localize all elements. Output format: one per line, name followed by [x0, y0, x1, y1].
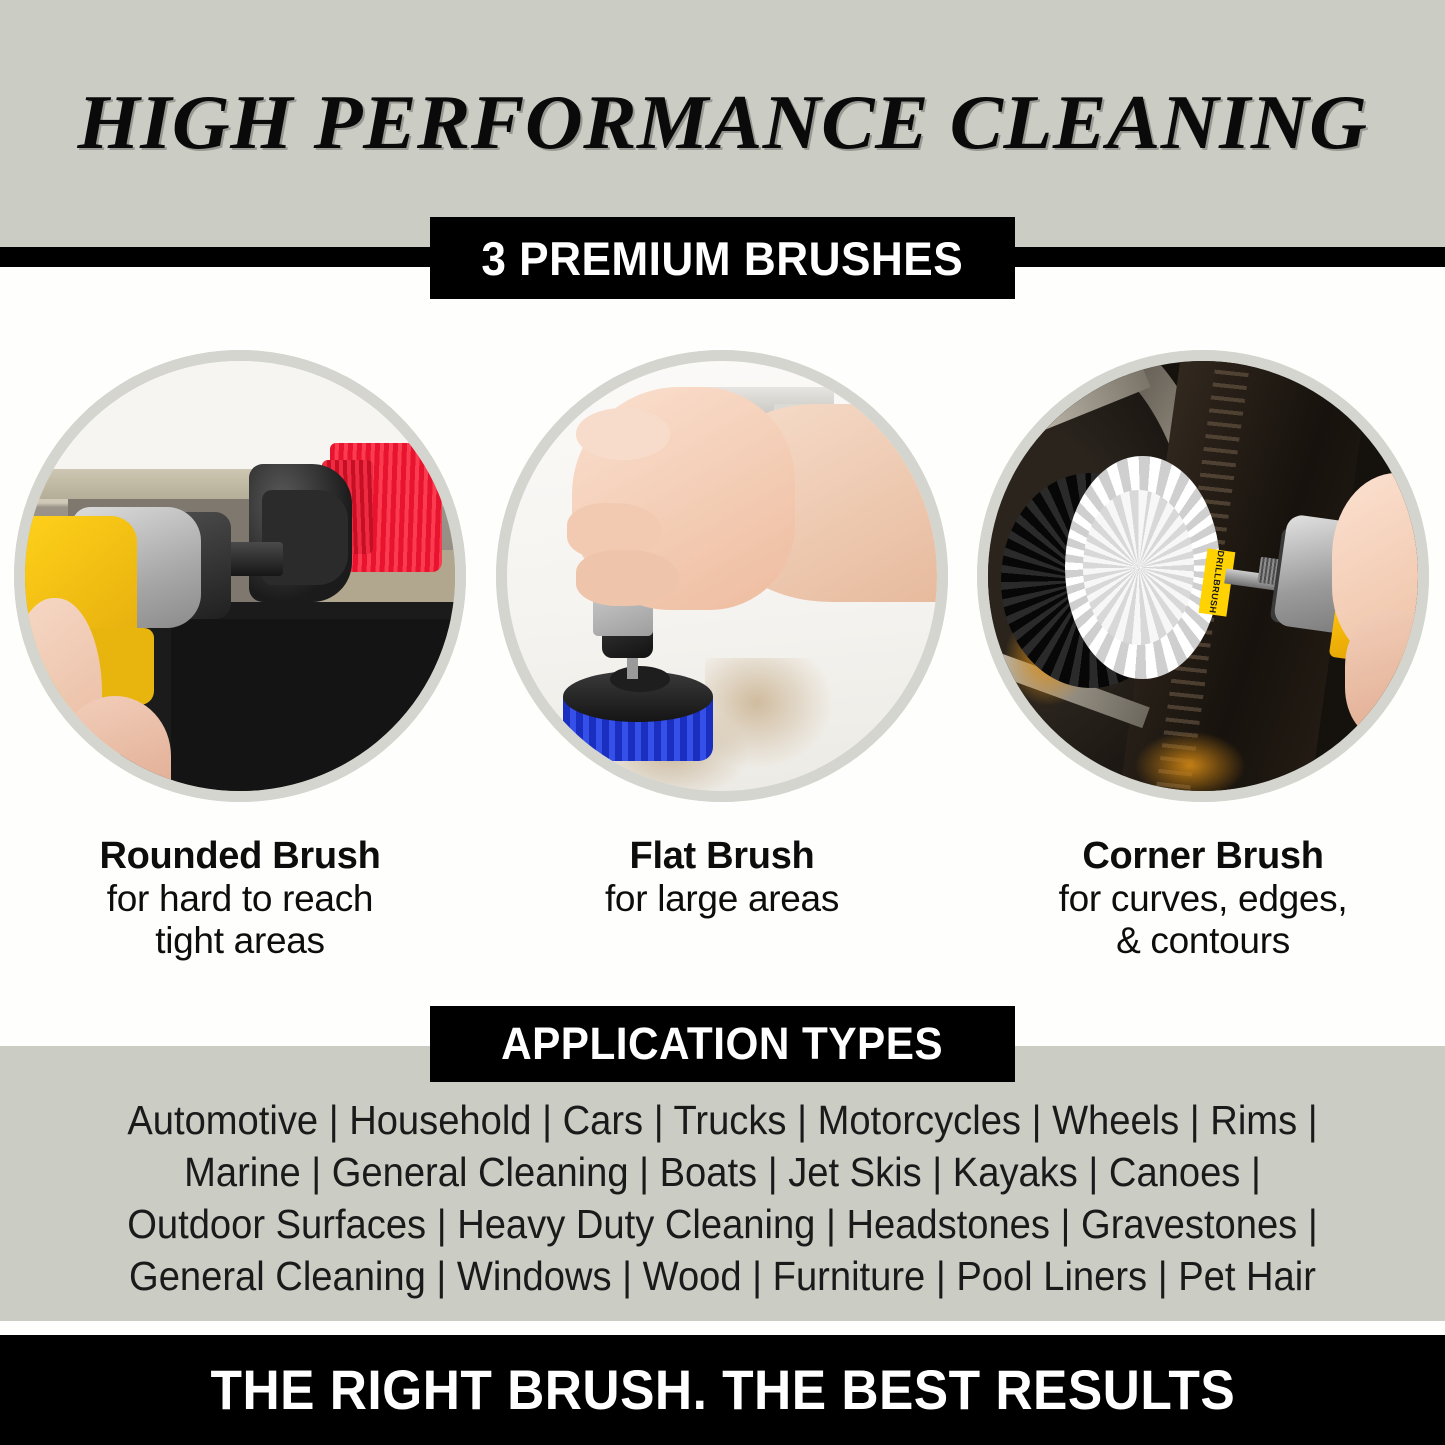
brush-desc-corner-l1: for curves, edges,: [977, 878, 1429, 920]
photo-corner-brush-image: DRILLBRUSH: [988, 361, 1418, 791]
brush-card-rounded[interactable]: Rounded Brush for hard to reach tight ar…: [14, 350, 466, 962]
banner-premium-brushes: 3 PREMIUM BRUSHES: [430, 217, 1015, 299]
brush-desc-rounded-l1: for hard to reach: [14, 878, 466, 920]
brush-caption-flat: Flat Brush for large areas: [496, 835, 948, 920]
application-line-2: Marine | General Cleaning | Boats | Jet …: [51, 1146, 1395, 1198]
banner-application-types: APPLICATION TYPES: [430, 1006, 1015, 1082]
photo-rounded-brush-image: [25, 361, 455, 791]
hand-thumb: [1345, 610, 1418, 739]
brush-desc-corner-l2: & contours: [977, 920, 1429, 962]
brush-caption-rounded: Rounded Brush for hard to reach tight ar…: [14, 835, 466, 962]
brush-photo-corner: DRILLBRUSH: [977, 350, 1429, 802]
banner-application-types-label: APPLICATION TYPES: [501, 1018, 943, 1070]
photo1-dark-panel: [171, 619, 455, 791]
footer-tagline-text: THE RIGHT BRUSH. THE BEST RESULTS: [210, 1357, 1235, 1422]
brush-name-corner: Corner Brush: [977, 835, 1429, 878]
brush-desc-flat-l1: for large areas: [496, 878, 948, 920]
brush-caption-corner: Corner Brush for curves, edges, & contou…: [977, 835, 1429, 962]
page-title: HIGH PERFORMANCE CLEANING: [0, 78, 1445, 167]
brush-photo-rounded: [14, 350, 466, 802]
photo-flat-brush-image: [507, 361, 937, 791]
amber-reflection-2: [1134, 731, 1246, 791]
product-infographic: HIGH PERFORMANCE CLEANING 3 PREMIUM BRUS…: [0, 0, 1445, 1445]
application-line-3: Outdoor Surfaces | Heavy Duty Cleaning |…: [51, 1198, 1395, 1250]
brush-desc-rounded-l2: tight areas: [14, 920, 466, 962]
application-line-1: Automotive | Household | Cars | Trucks |…: [51, 1094, 1395, 1146]
brush-name-flat: Flat Brush: [496, 835, 948, 878]
brush-card-corner[interactable]: DRILLBRUSH Corner Brush for curves, edge…: [977, 350, 1429, 962]
hand-knuckles: [576, 408, 671, 460]
brush-card-flat[interactable]: Flat Brush for large areas: [496, 350, 948, 920]
footer-tagline: THE RIGHT BRUSH. THE BEST RESULTS: [0, 1357, 1445, 1422]
application-line-4: General Cleaning | Windows | Wood | Furn…: [51, 1250, 1395, 1302]
footer-white-gap: [0, 1321, 1445, 1335]
white-brush-bristles-inner: [1083, 490, 1195, 645]
brush-name-rounded: Rounded Brush: [14, 835, 466, 878]
application-types-list: Automotive | Household | Cars | Trucks |…: [0, 1094, 1445, 1302]
banner-premium-brushes-label: 3 PREMIUM BRUSHES: [482, 231, 964, 286]
hand-finger-2: [576, 550, 679, 606]
brush-photo-flat: [496, 350, 948, 802]
brush-cards-row: Rounded Brush for hard to reach tight ar…: [0, 350, 1445, 990]
